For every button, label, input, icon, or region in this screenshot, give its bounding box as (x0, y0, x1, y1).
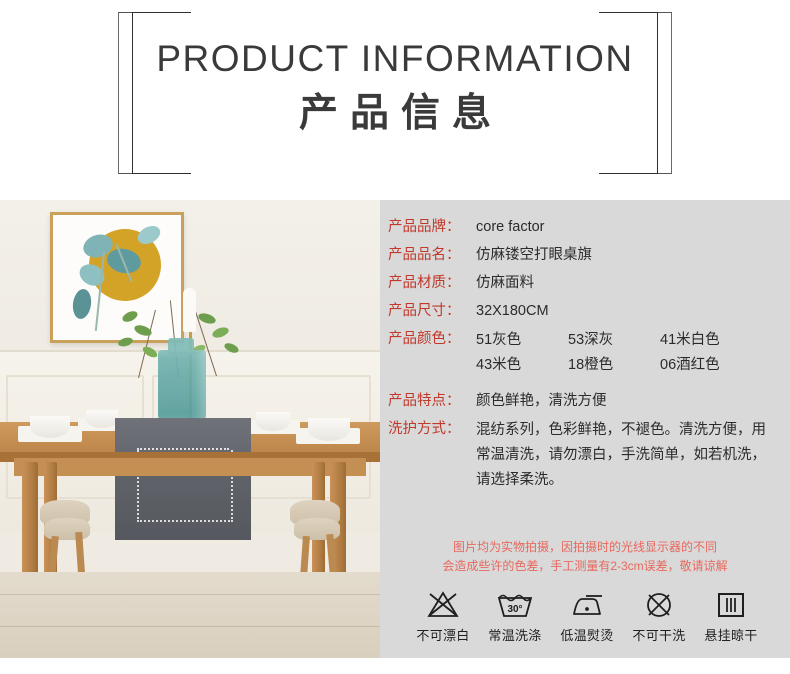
spec-row-name: 产品品名： 仿麻镂空打眼桌旗 (388, 244, 788, 266)
care-item-wash-30: 30° 常温洗涤 (484, 585, 546, 644)
photo-bowl (30, 416, 70, 438)
plant-leaf (117, 336, 134, 348)
color-option[interactable]: 18橙色 (568, 353, 660, 378)
spec-label-features: 产品特点： (388, 390, 476, 412)
spec-label-material: 产品材质： (388, 272, 476, 294)
header-titles: PRODUCT INFORMATION 产品信息 (0, 38, 790, 137)
spec-row-colors: 产品颜色： 51灰色 53深灰 41米白色 43米色 18橙色 06酒红色 (388, 328, 788, 378)
spec-value-brand: core factor (476, 216, 788, 238)
photo-floor (0, 572, 380, 658)
spec-label-colors: 产品颜色： (388, 328, 476, 350)
spec-label-brand: 产品品牌： (388, 216, 476, 238)
svg-text:30°: 30° (507, 604, 522, 615)
spec-label-size: 产品尺寸： (388, 300, 476, 322)
product-lifestyle-photo (0, 200, 380, 658)
photo-bowl (256, 412, 290, 431)
care-caption-low-iron: 低温熨烫 (556, 625, 618, 644)
product-information-page: PRODUCT INFORMATION 产品信息 (0, 0, 790, 674)
spec-list: 产品品牌： core factor 产品品名： 仿麻镂空打眼桌旗 产品材质： 仿… (388, 216, 788, 499)
plant-branch (138, 310, 156, 378)
care-caption-no-bleach: 不可漂白 (412, 625, 474, 644)
color-option[interactable]: 53深灰 (568, 328, 660, 353)
disclaimer-line-1: 图片均为实物拍摄，因拍摄时的光线显示器的不同 (380, 538, 790, 557)
photo-bowl (86, 410, 118, 428)
photo-candle (183, 288, 196, 332)
page-header: PRODUCT INFORMATION 产品信息 (0, 0, 790, 190)
plant-leaf (223, 341, 240, 354)
color-option-grid: 51灰色 53深灰 41米白色 43米色 18橙色 06酒红色 (476, 328, 776, 378)
page-title-chinese: 产品信息 (0, 91, 790, 138)
product-info-panel: 产品品牌： core factor 产品品名： 仿麻镂空打眼桌旗 产品材质： 仿… (380, 200, 790, 658)
color-option[interactable]: 43米色 (476, 353, 568, 378)
care-item-low-iron: 低温熨烫 (556, 585, 618, 644)
disclaimer-note: 图片均为实物拍摄，因拍摄时的光线显示器的不同 会造成些许的色差，手工测量有2-3… (380, 538, 790, 576)
spec-label-care: 洗护方式： (388, 418, 476, 440)
care-caption-no-dry-clean: 不可干洗 (628, 625, 690, 644)
color-option[interactable]: 06酒红色 (660, 353, 752, 378)
artwork-leaf (71, 288, 93, 320)
care-item-line-dry: 悬挂晾干 (700, 585, 762, 644)
spec-value-name: 仿麻镂空打眼桌旗 (476, 244, 788, 266)
plant-leaf (121, 309, 139, 324)
spec-row-features: 产品特点： 颜色鲜艳，清洗方便 (388, 390, 788, 412)
care-caption-line-dry: 悬挂晾干 (700, 625, 762, 644)
low-temperature-iron-icon (556, 585, 618, 625)
care-symbol-row: 不可漂白 30° 常温洗涤 (412, 585, 762, 644)
page-title-english: PRODUCT INFORMATION (0, 38, 790, 81)
spec-row-material: 产品材质： 仿麻面料 (388, 272, 788, 294)
spec-label-name: 产品品名： (388, 244, 476, 266)
plant-leaf (211, 325, 230, 339)
color-option[interactable]: 51灰色 (476, 328, 568, 353)
spec-value-material: 仿麻面料 (476, 272, 788, 294)
no-dry-clean-icon (628, 585, 690, 625)
spec-row-size: 产品尺寸： 32X180CM (388, 300, 788, 322)
color-option[interactable]: 41米白色 (660, 328, 752, 353)
photo-bowl (308, 418, 350, 441)
care-caption-wash-30: 常温洗涤 (484, 625, 546, 644)
spec-value-features: 颜色鲜艳，清洗方便 (476, 390, 788, 412)
line-dry-icon (700, 585, 762, 625)
photo-glass-vase (158, 350, 206, 422)
care-item-no-bleach: 不可漂白 (412, 585, 474, 644)
floor-seam (0, 626, 380, 627)
spec-value-care: 混纺系列，色彩鲜艳，不褪色。清洗方便，用常温清洗，请勿漂白，手洗简单，如若机洗，… (476, 418, 774, 493)
photo-table-runner (115, 418, 251, 540)
floor-seam (0, 594, 380, 595)
content-band: 产品品牌： core factor 产品品名： 仿麻镂空打眼桌旗 产品材质： 仿… (0, 200, 790, 658)
spec-row-brand: 产品品牌： core factor (388, 216, 788, 238)
spec-value-size: 32X180CM (476, 300, 788, 322)
no-bleach-icon (412, 585, 474, 625)
care-item-no-dry-clean: 不可干洗 (628, 585, 690, 644)
wash-30-degrees-icon: 30° (484, 585, 546, 625)
disclaimer-line-2: 会造成些许的色差，手工测量有2-3cm误差，敬请谅解 (380, 557, 790, 576)
spec-row-care: 洗护方式： 混纺系列，色彩鲜艳，不褪色。清洗方便，用常温清洗，请勿漂白，手洗简单… (388, 418, 788, 493)
